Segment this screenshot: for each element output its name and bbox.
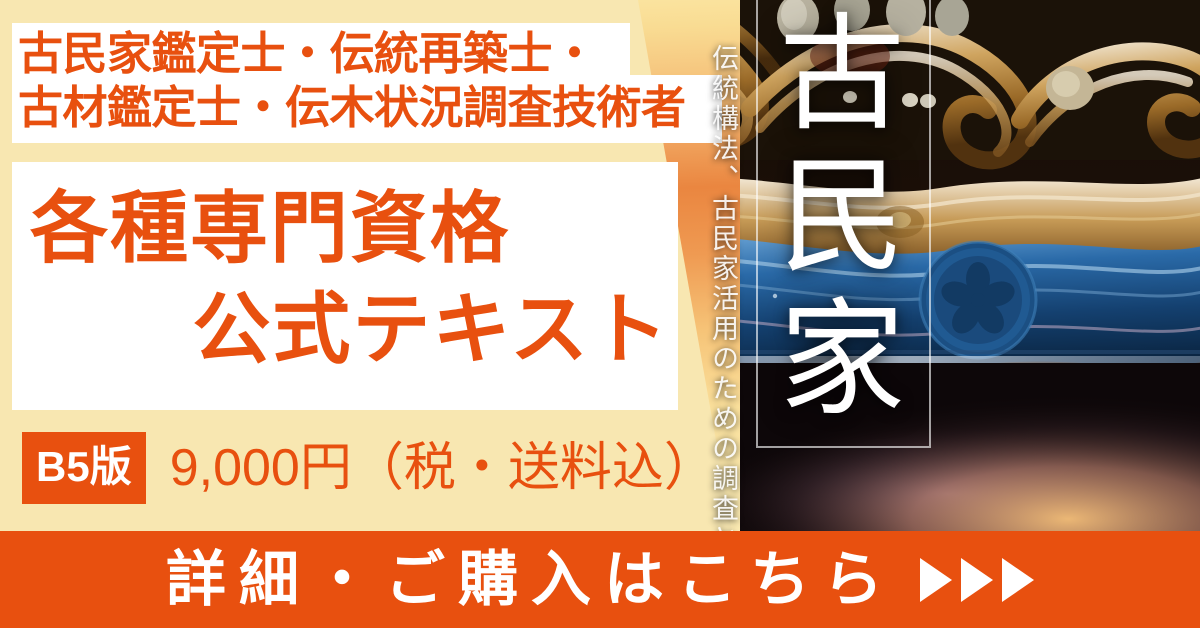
book-title-char-1: 古 <box>772 6 912 148</box>
headline: 古民家鑑定士・伝統再築士・ 古材鑑定士・伝木状況調査技術者 <box>18 27 718 135</box>
chevron-right-icon <box>1002 558 1034 602</box>
headline-line-1: 古民家鑑定士・伝統再築士・ <box>18 27 718 81</box>
promo-banner: 伝統構法、古民家活用のための調査と再生の 古 民 家 古民家鑑定士・伝統再築士・… <box>0 0 1200 628</box>
chevron-right-icon <box>961 558 993 602</box>
book-title-char-3: 家 <box>772 291 912 433</box>
book-title-char-2: 民 <box>772 148 912 290</box>
price-amount: 9,000円（税・送料込） <box>170 442 716 494</box>
price-row: B5版 9,000円（税・送料込） <box>22 432 716 504</box>
page-title: 各種専門資格 公式テキスト <box>18 178 678 381</box>
page-title-line-1: 各種専門資格 <box>18 178 678 279</box>
chevron-right-icon <box>920 558 952 602</box>
cta-label: 詳細・ご購入はこちら <box>166 550 896 610</box>
cta-arrows <box>920 558 1034 602</box>
format-badge: B5版 <box>22 432 146 504</box>
book-title: 古 民 家 <box>772 6 912 433</box>
headline-line-2: 古材鑑定士・伝木状況調査技術者 <box>18 81 718 135</box>
page-title-line-2: 公式テキスト <box>18 279 678 380</box>
cta-bar[interactable]: 詳細・ご購入はこちら <box>0 531 1200 628</box>
